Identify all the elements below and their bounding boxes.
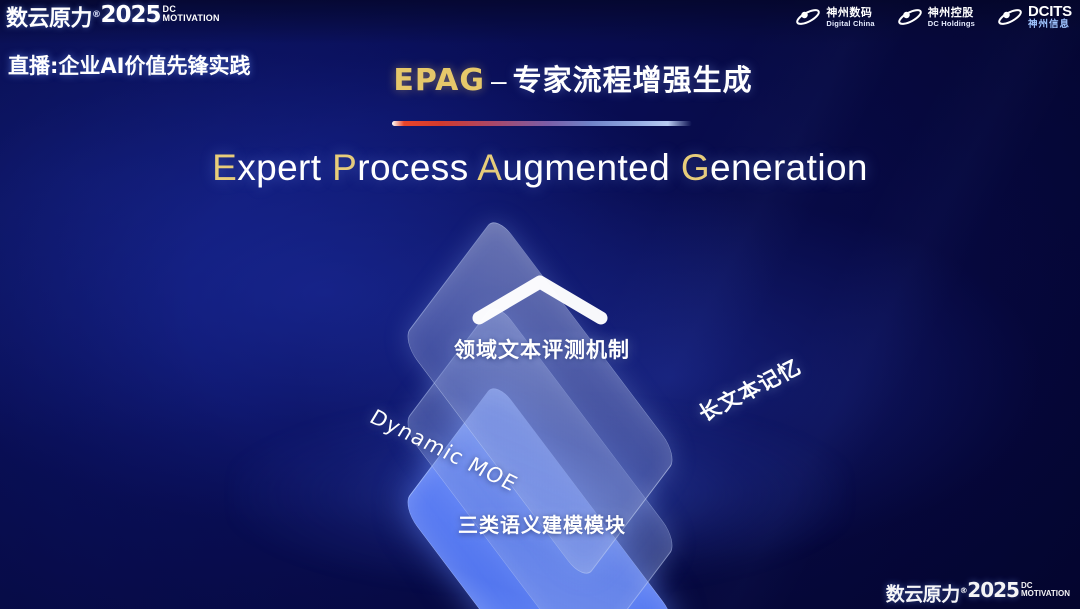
page-title: EPAG–专家流程增强生成 <box>0 57 1080 99</box>
partner-name-en: Digital China <box>826 20 874 28</box>
headline-dash: – <box>491 65 507 96</box>
headline-acronym: EPAG <box>393 63 485 98</box>
subtitle-word-generation: Generation <box>681 147 868 188</box>
chevron-up-icon <box>469 272 611 328</box>
partner-logo-digital-china: 神州数码 Digital China <box>795 6 874 28</box>
subtitle-word-expert: Expert <box>212 147 321 188</box>
partner-logo-dc-holdings: 神州控股 DC Holdings <box>897 6 975 28</box>
partner-logo-dcits: DCITS 神州信息 <box>997 4 1072 30</box>
partner-name-cn: 神州控股 <box>928 7 975 18</box>
brand-logo: 数云原力® 2025 DC MOTIVATION <box>6 3 220 31</box>
headline-title-cn: 专家流程增强生成 <box>513 63 753 97</box>
watermark-logo: 数云原力® 2025 DC MOTIVATION <box>886 580 1070 605</box>
subtitle-word-process: Process <box>332 147 468 188</box>
stack-glow <box>232 400 848 590</box>
brand-dc-motivation: DC MOTIVATION <box>163 3 220 23</box>
partner-name-cn: 神州信息 <box>1028 20 1072 30</box>
diagram-label-dynamic-moe: Dynamic MOE <box>366 405 523 496</box>
partner-logo-text: DCITS 神州信息 <box>1028 4 1072 30</box>
watermark-name-cn: 数云原力® <box>886 580 968 605</box>
swirl-logo-icon <box>997 6 1023 28</box>
diagram-label-top: 领域文本评测机制 <box>0 334 1080 364</box>
watermark-dc-motivation: DC MOTIVATION <box>1021 580 1070 598</box>
partner-name-cn: 神州数码 <box>826 7 874 18</box>
subtitle-word-augmented: Augmented <box>477 147 670 188</box>
partner-logo-group: 神州数码 Digital China 神州控股 DC Holdings DCIT… <box>795 4 1072 30</box>
watermark-dc-line2: MOTIVATION <box>1021 590 1070 598</box>
diagram-label-bottom: 三类语义建模模块 <box>0 509 1080 538</box>
brand-name-cn: 数云原力® <box>6 3 101 31</box>
diagram-layer-top <box>401 214 678 582</box>
swirl-logo-icon <box>897 6 923 28</box>
partner-name-en: DC Holdings <box>928 20 975 28</box>
presentation-slide: 数云原力® 2025 DC MOTIVATION 直播:企业AI价值先锋实践 神… <box>0 0 1080 609</box>
partner-name-en: DCITS <box>1028 4 1072 19</box>
partner-logo-text: 神州控股 DC Holdings <box>928 7 975 28</box>
partner-logo-text: 神州数码 Digital China <box>826 7 874 28</box>
watermark-year: 2025 <box>967 580 1019 601</box>
diagram-label-long-memory: 长文本记忆 <box>692 352 807 428</box>
swirl-logo-icon <box>795 6 821 28</box>
diagram-layer-middle <box>401 300 678 609</box>
gradient-divider <box>392 121 692 126</box>
registered-mark-icon: ® <box>92 10 101 20</box>
brand-year: 2025 <box>101 3 161 27</box>
diagram-layer-bottom <box>401 380 678 609</box>
brand-dc-line2: MOTIVATION <box>163 14 220 23</box>
subtitle-english: Expert Process Augmented Generation <box>0 147 1080 189</box>
